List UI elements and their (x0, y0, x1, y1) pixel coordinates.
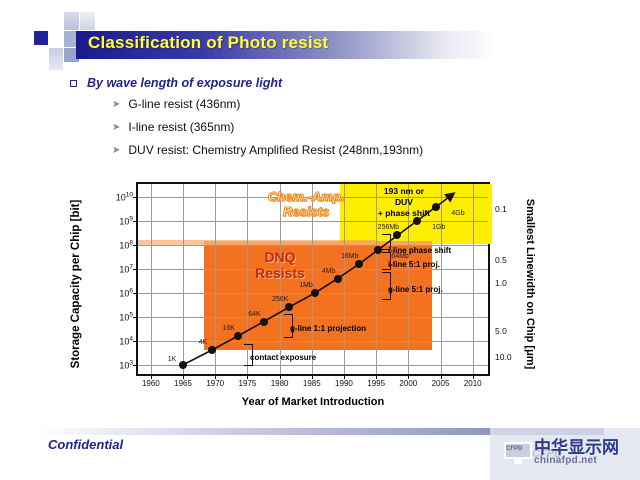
y-axis-tick-label: 104 (119, 335, 133, 346)
y2-axis-tick-label: 10.0 (495, 352, 512, 362)
x-axis-tick-mark (247, 374, 248, 379)
data-point-label: 1K (168, 356, 177, 363)
deco-block (80, 12, 95, 30)
x-axis-tick-label: 1975 (239, 379, 257, 388)
x-axis-tick-mark (473, 374, 474, 379)
y-axis-label: Storage Capacity per Chip [bit] (70, 184, 82, 384)
y-axis-tick-mark (133, 197, 138, 198)
y-axis-tick-label: 105 (119, 311, 133, 322)
x-axis-tick-label: 1960 (142, 379, 160, 388)
bullet-level1-label: By wave length of exposure light (87, 76, 282, 90)
data-point (234, 332, 242, 340)
monitor-icon: CFPD (496, 440, 536, 466)
x-axis-tick-label: 1990 (335, 379, 353, 388)
monitor-stand-icon (514, 459, 522, 464)
data-point-label: 256K (272, 296, 288, 303)
data-point-label: 16K (223, 325, 235, 332)
bullet-item-iline: ➤ I-line resist (365nm) (112, 120, 590, 135)
bullet-item-gline: ➤ G-line resist (436nm) (112, 97, 590, 112)
y-axis-tick-mark (133, 365, 138, 366)
data-point-label: 256Mb (378, 224, 399, 231)
y-axis-tick-mark (133, 221, 138, 222)
bullet-item-duv: ➤ DUV resist: Chemistry Amplified Resist… (112, 143, 590, 158)
data-point (311, 289, 319, 297)
data-point (432, 203, 440, 211)
deco-block (64, 12, 79, 30)
x-axis-tick-mark (215, 374, 216, 379)
x-axis-tick-label: 1995 (367, 379, 385, 388)
x-axis-tick-label: 1980 (271, 379, 289, 388)
x-axis-tick-label: 1985 (303, 379, 321, 388)
x-axis-tick-mark (441, 374, 442, 379)
deco-block (49, 48, 63, 70)
data-point (374, 246, 382, 254)
y-axis-tick-label: 106 (119, 287, 133, 298)
x-axis-tick-label: 2000 (399, 379, 417, 388)
plot-area: Chem.-Amp.Resists DNQResists 193 nm orDU… (136, 182, 490, 376)
x-axis-tick-mark (312, 374, 313, 379)
y-axis-tick-mark (133, 245, 138, 246)
square-bullet-icon (70, 80, 77, 87)
data-point-label: 1Mb (299, 282, 313, 289)
y-axis-tick-mark (133, 269, 138, 270)
page-title: Classification of Photo resist (88, 33, 328, 53)
data-point (285, 303, 293, 311)
y2-axis-label: Smallest Linewidth on Chip [μm] (524, 184, 536, 384)
data-point-label: 4Mb (322, 268, 336, 275)
y-axis-tick-mark (133, 293, 138, 294)
arrow-bullet-icon: ➤ (112, 120, 120, 135)
data-point-label: 1Gb (432, 224, 445, 231)
chart: Storage Capacity per Chip [bit] Smallest… (82, 178, 552, 423)
y-axis-tick-mark (133, 317, 138, 318)
data-point (179, 361, 187, 369)
watermark-domain: chinafpd.net (534, 455, 597, 466)
data-point (355, 260, 363, 268)
y-axis-tick-label: 107 (119, 264, 133, 275)
y2-axis-tick-label: 0.1 (495, 204, 507, 214)
x-axis-tick-label: 2005 (432, 379, 450, 388)
y-axis-tick-mark (133, 341, 138, 342)
y-axis-tick-label: 103 (119, 359, 133, 370)
y2-axis-tick-label: 0.5 (495, 255, 507, 265)
data-point-label: 4Gb (451, 210, 464, 217)
x-axis-tick-label: 2010 (464, 379, 482, 388)
data-point-label: 16Mb (341, 253, 359, 260)
bullet-list: By wave length of exposure light ➤ G-lin… (70, 76, 590, 166)
x-axis-tick-mark (408, 374, 409, 379)
data-point-label: 4K (199, 339, 208, 346)
x-axis-tick-label: 1965 (174, 379, 192, 388)
bullet-label: I-line resist (365nm) (128, 120, 234, 134)
bullet-label: G-line resist (436nm) (128, 97, 240, 111)
data-point (334, 275, 342, 283)
arrow-bullet-icon: ➤ (112, 97, 120, 112)
x-axis-tick-mark (280, 374, 281, 379)
x-axis-tick-label: 1970 (206, 379, 224, 388)
watermark-icon-text: CFPD (506, 446, 522, 452)
x-axis-tick-mark (376, 374, 377, 379)
data-point (413, 217, 421, 225)
data-point-label: 64K (248, 311, 260, 318)
x-axis-tick-mark (183, 374, 184, 379)
footer-confidential: Confidential (48, 437, 123, 452)
data-point (260, 318, 268, 326)
x-axis-tick-mark (151, 374, 152, 379)
y2-axis-tick-label: 5.0 (495, 326, 507, 336)
bullet-level1: By wave length of exposure light (70, 76, 590, 90)
bullet-label: DUV resist: Chemistry Amplified Resist (… (128, 143, 423, 157)
y2-axis-tick-label: 1.0 (495, 278, 507, 288)
y-axis-tick-label: 1010 (116, 192, 133, 203)
arrow-bullet-icon: ➤ (112, 143, 120, 158)
y-axis-tick-label: 109 (119, 216, 133, 227)
data-point (393, 231, 401, 239)
y-axis-tick-label: 108 (119, 240, 133, 251)
data-point-label: 64Mb (391, 253, 409, 260)
x-axis-tick-mark (344, 374, 345, 379)
x-axis-label: Year of Market Introduction (136, 396, 490, 408)
watermark: CFPD CFPD 中华显示网 chinafpd.net (490, 428, 640, 480)
deco-block (34, 31, 48, 45)
data-series-line (138, 184, 492, 378)
data-point (208, 346, 216, 354)
